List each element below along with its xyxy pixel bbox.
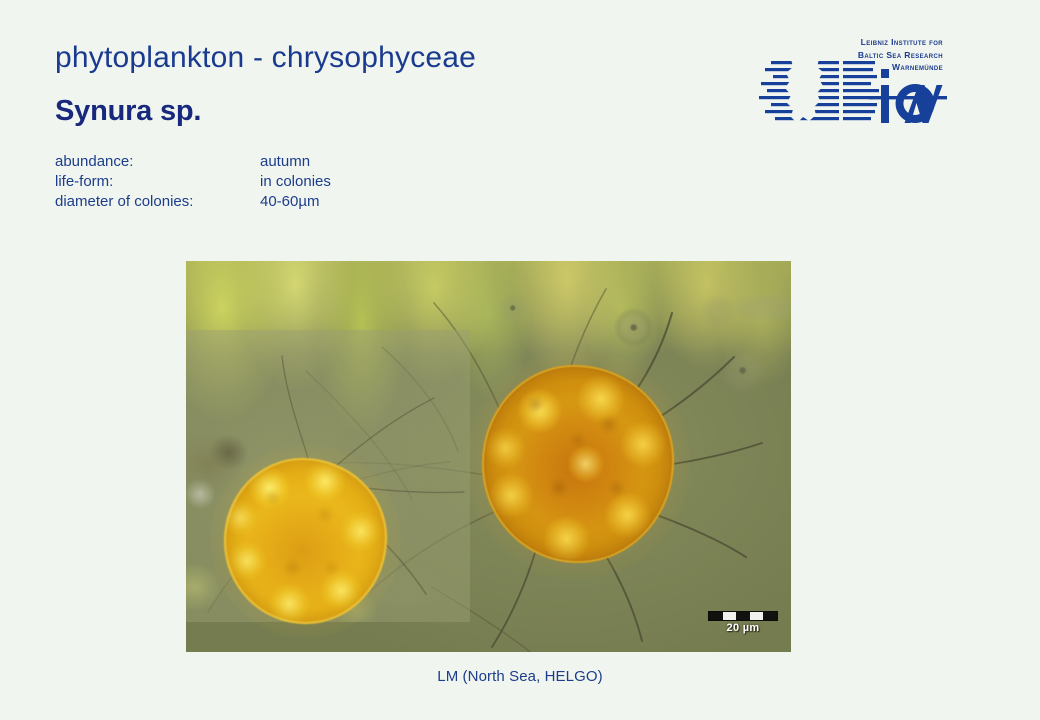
- metadata-value-life-form: in colonies: [260, 172, 331, 192]
- metadata-row-abundance: abundance: autumn: [55, 152, 331, 172]
- scale-bar-graphic: [708, 611, 778, 621]
- species-name: Synura sp.: [55, 95, 201, 128]
- micrograph-image: 20 µm: [186, 261, 791, 652]
- iow-logo-mark-icon: [757, 41, 947, 133]
- metadata-label-life-form: life-form:: [55, 172, 260, 192]
- metadata-label-abundance: abundance:: [55, 152, 260, 172]
- metadata-row-diameter: diameter of colonies: 40-60µm: [55, 192, 331, 212]
- scale-bar-label: 20 µm: [706, 622, 780, 634]
- metadata-value-diameter: 40-60µm: [260, 192, 331, 212]
- colony-main: [482, 365, 674, 563]
- colony-inset: [224, 458, 387, 624]
- metadata-value-abundance: autumn: [260, 152, 331, 172]
- metadata-block: abundance: autumn life-form: in colonies…: [55, 152, 331, 212]
- iow-logo: Leibniz Institute for Baltic Sea Researc…: [757, 33, 947, 133]
- page-title: phytoplankton - chrysophyceae: [55, 41, 476, 75]
- scale-bar: 20 µm: [706, 611, 780, 634]
- metadata-row-life-form: life-form: in colonies: [55, 172, 331, 192]
- micrograph-caption: LM (North Sea, HELGO): [0, 668, 1040, 685]
- micrograph-inset-panel: [186, 330, 470, 622]
- metadata-label-diameter: diameter of colonies:: [55, 192, 260, 212]
